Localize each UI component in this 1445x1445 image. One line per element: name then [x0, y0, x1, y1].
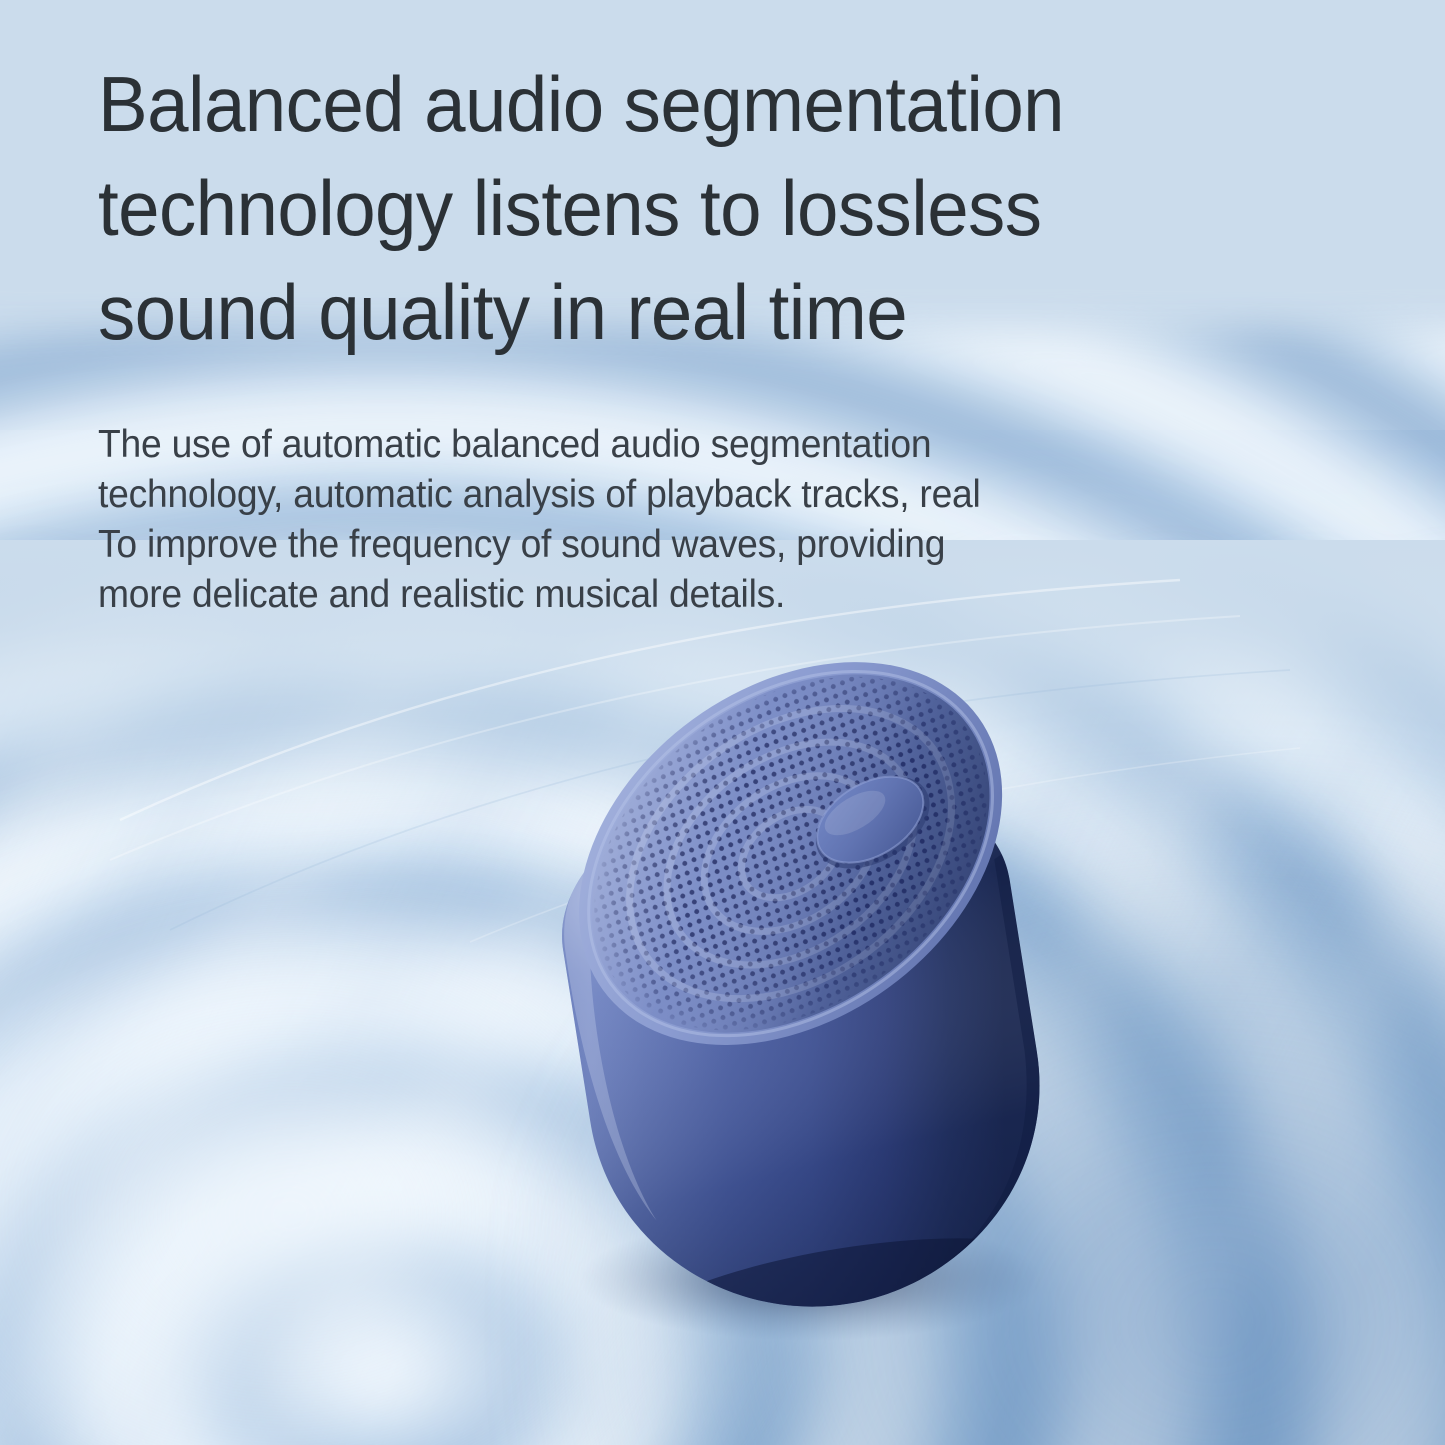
copy-block: Balanced audio segmentation technology l…	[98, 52, 1418, 620]
page-title: Balanced audio segmentation technology l…	[98, 52, 1359, 364]
product-image-speaker	[455, 655, 1145, 1355]
product-feature-banner: Balanced audio segmentation technology l…	[0, 0, 1445, 1445]
page-description: The use of automatic balanced audio segm…	[98, 364, 1359, 620]
